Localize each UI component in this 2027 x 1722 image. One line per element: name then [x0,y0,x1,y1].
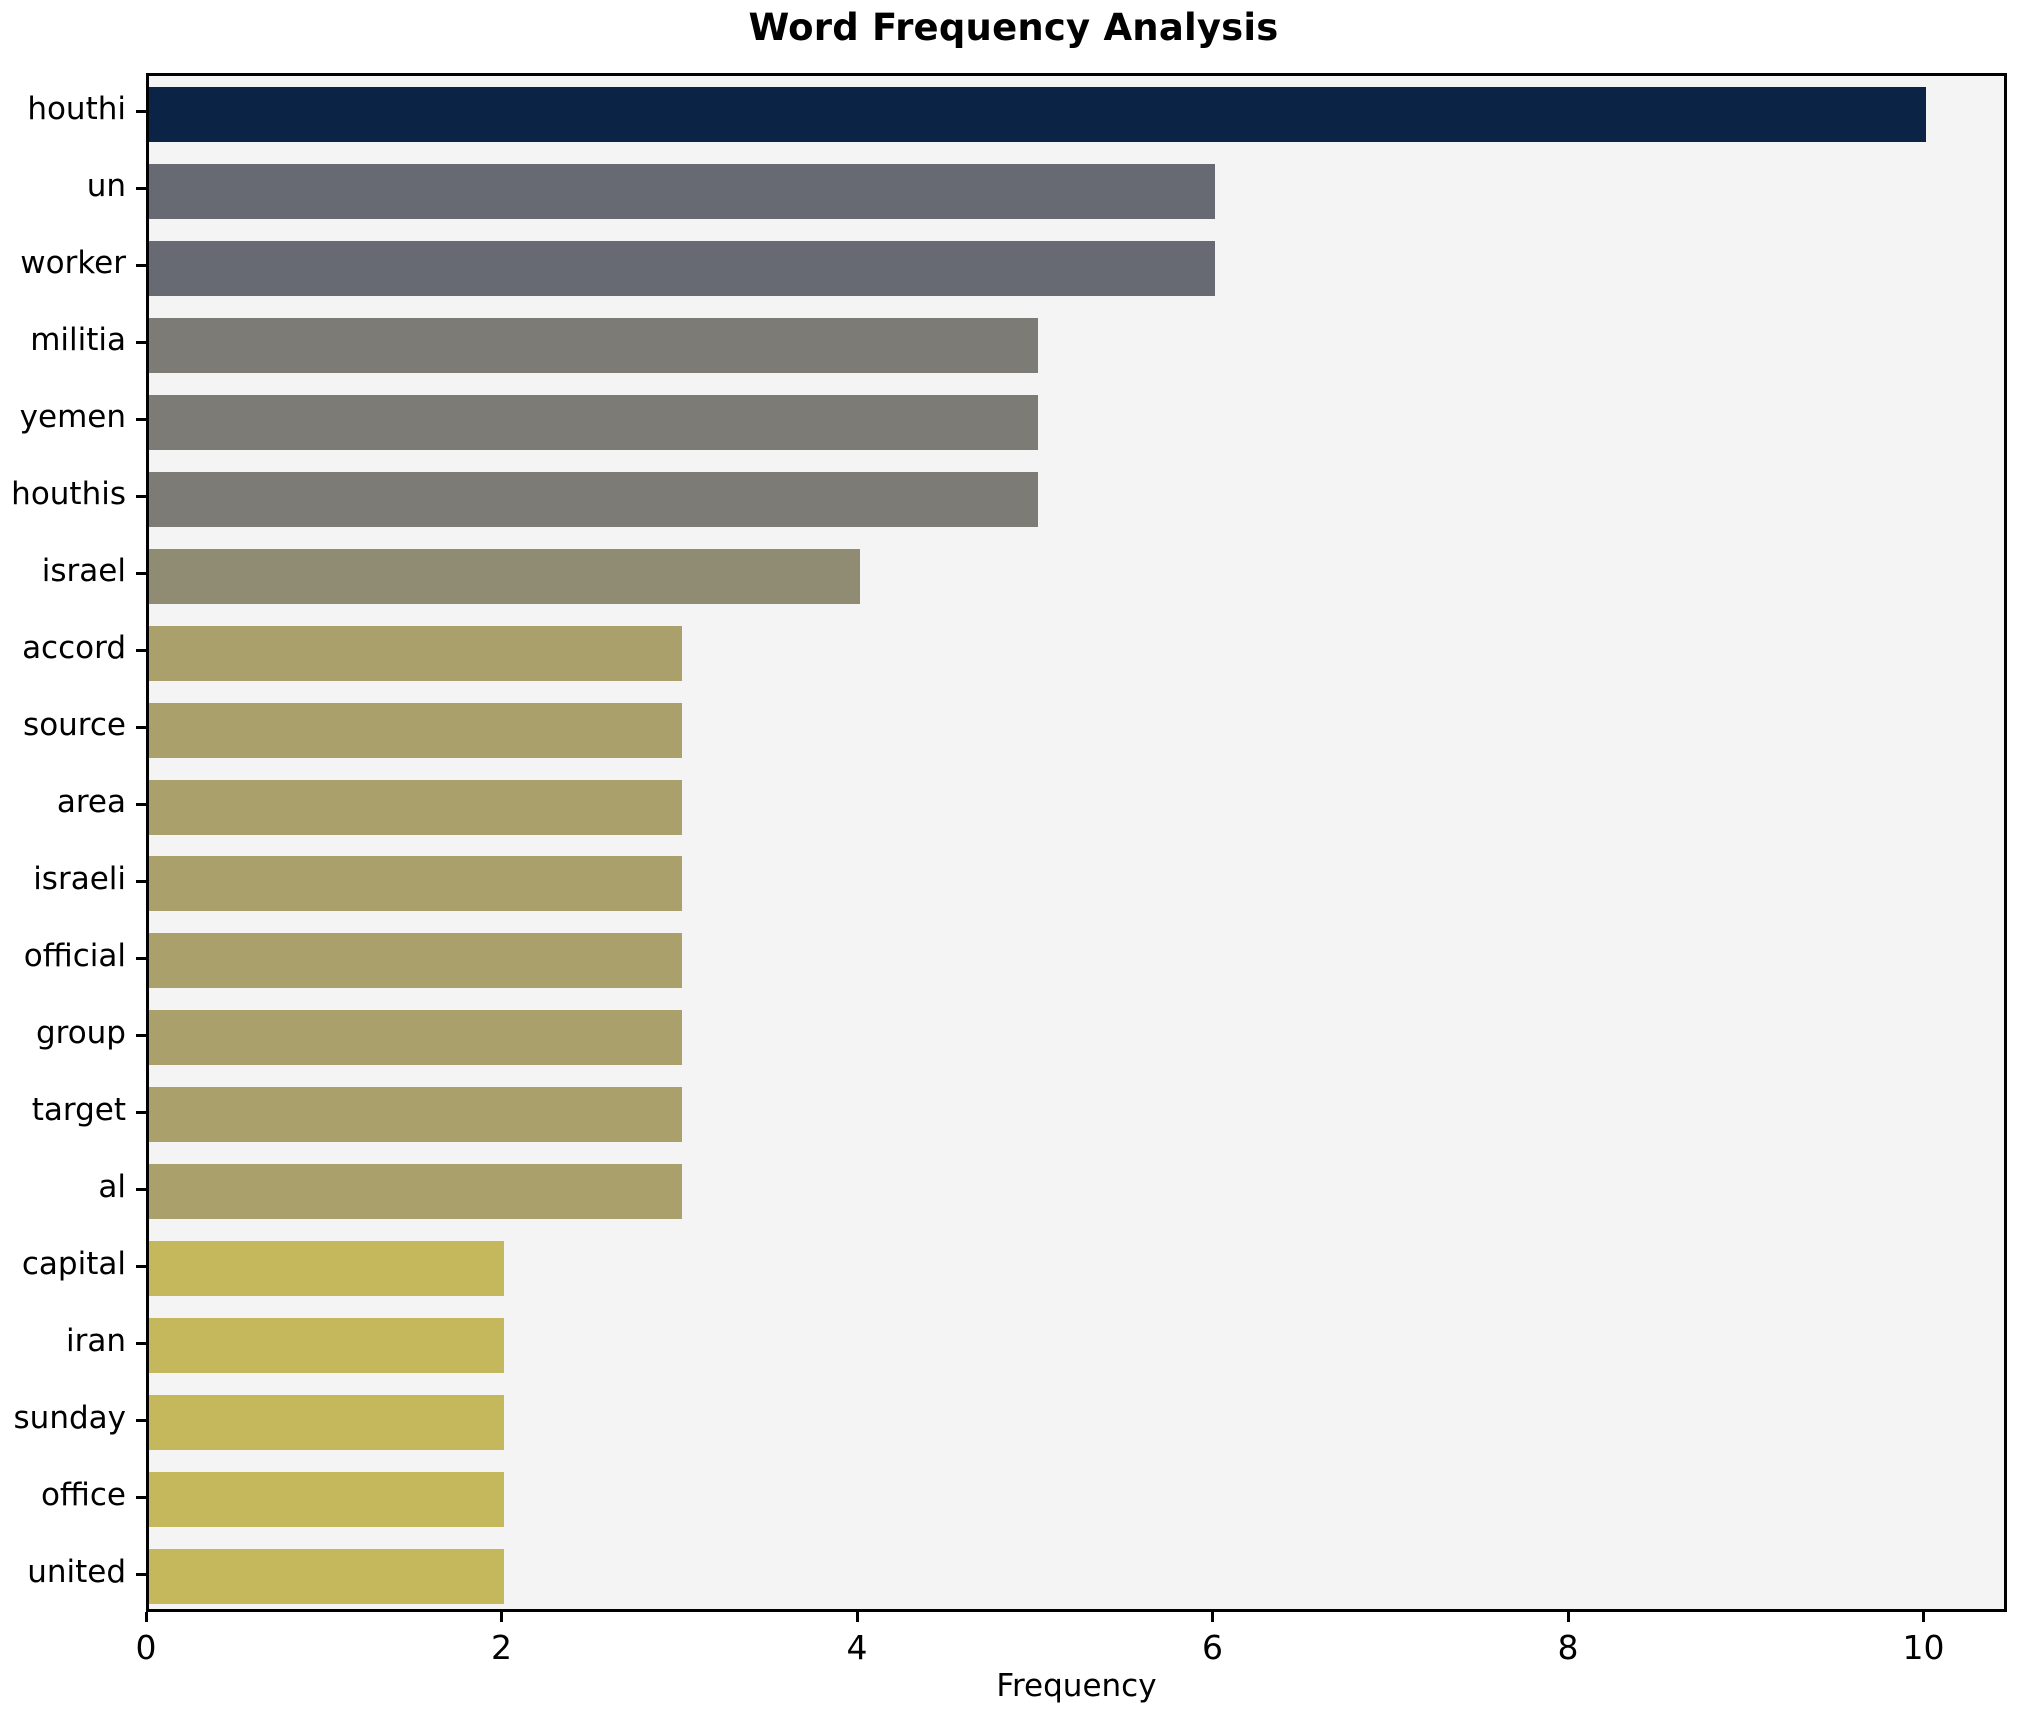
y-tick-label: accord [0,633,126,664]
chart-figure: Word Frequency Analysis houthiunworkermi… [0,0,2027,1722]
y-tick-label: un [0,171,126,202]
bar [149,1472,504,1527]
y-tick-label: al [0,1172,126,1203]
x-tick-label: 2 [461,1630,541,1666]
bar [149,549,860,604]
y-tick-mark [136,110,146,113]
bar [149,1164,682,1219]
bar [149,87,1926,142]
bar [149,241,1215,296]
x-tick-mark [1567,1612,1570,1622]
bar [149,856,682,911]
bar [149,626,682,681]
y-tick-label: houthi [0,94,126,125]
y-tick-label: united [0,1557,126,1588]
bar [149,472,1038,527]
x-tick-label: 8 [1528,1630,1608,1666]
y-tick-label: capital [0,1249,126,1280]
x-tick-mark [500,1612,503,1622]
x-tick-label: 0 [106,1630,186,1666]
y-tick-label: yemen [0,402,126,433]
y-tick-mark [136,726,146,729]
y-tick-mark [136,1342,146,1345]
bar [149,933,682,988]
x-tick-label: 6 [1172,1630,1252,1666]
x-tick-label: 10 [1883,1630,1963,1666]
y-tick-mark [136,880,146,883]
x-tick-label: 4 [817,1630,897,1666]
y-tick-label: worker [0,248,126,279]
y-tick-mark [136,1111,146,1114]
bar [149,1318,504,1373]
y-tick-mark [136,341,146,344]
y-tick-label: israel [0,556,126,587]
bar [149,1549,504,1604]
x-tick-mark [856,1612,859,1622]
y-tick-mark [136,957,146,960]
bar [149,780,682,835]
y-tick-label: target [0,1095,126,1126]
x-axis-label: Frequency [146,1668,2007,1704]
y-tick-mark [136,1496,146,1499]
x-tick-mark [1922,1612,1925,1622]
y-tick-label: source [0,710,126,741]
bar [149,395,1038,450]
bar [149,1241,504,1296]
y-tick-label: office [0,1480,126,1511]
y-tick-label: official [0,941,126,972]
y-tick-mark [136,1419,146,1422]
y-tick-label: sunday [0,1403,126,1434]
y-tick-label: group [0,1018,126,1049]
y-tick-mark [136,1188,146,1191]
x-tick-mark [1211,1612,1214,1622]
y-tick-mark [136,1573,146,1576]
y-tick-mark [136,418,146,421]
y-tick-mark [136,803,146,806]
y-tick-mark [136,187,146,190]
bar [149,703,682,758]
y-tick-mark [136,1034,146,1037]
y-tick-mark [136,264,146,267]
y-tick-label: houthis [0,479,126,510]
bar [149,1395,504,1450]
bars-container [149,76,2004,1609]
bar [149,318,1038,373]
bar [149,164,1215,219]
chart-title: Word Frequency Analysis [0,6,2027,49]
y-tick-label: area [0,787,126,818]
y-tick-label: militia [0,325,126,356]
bar [149,1010,682,1065]
y-tick-mark [136,572,146,575]
y-tick-label: iran [0,1326,126,1357]
y-tick-mark [136,495,146,498]
bar [149,1087,682,1142]
y-tick-mark [136,1265,146,1268]
y-tick-mark [136,649,146,652]
x-tick-mark [145,1612,148,1622]
plot-axes [146,73,2007,1612]
y-tick-label: israeli [0,864,126,895]
